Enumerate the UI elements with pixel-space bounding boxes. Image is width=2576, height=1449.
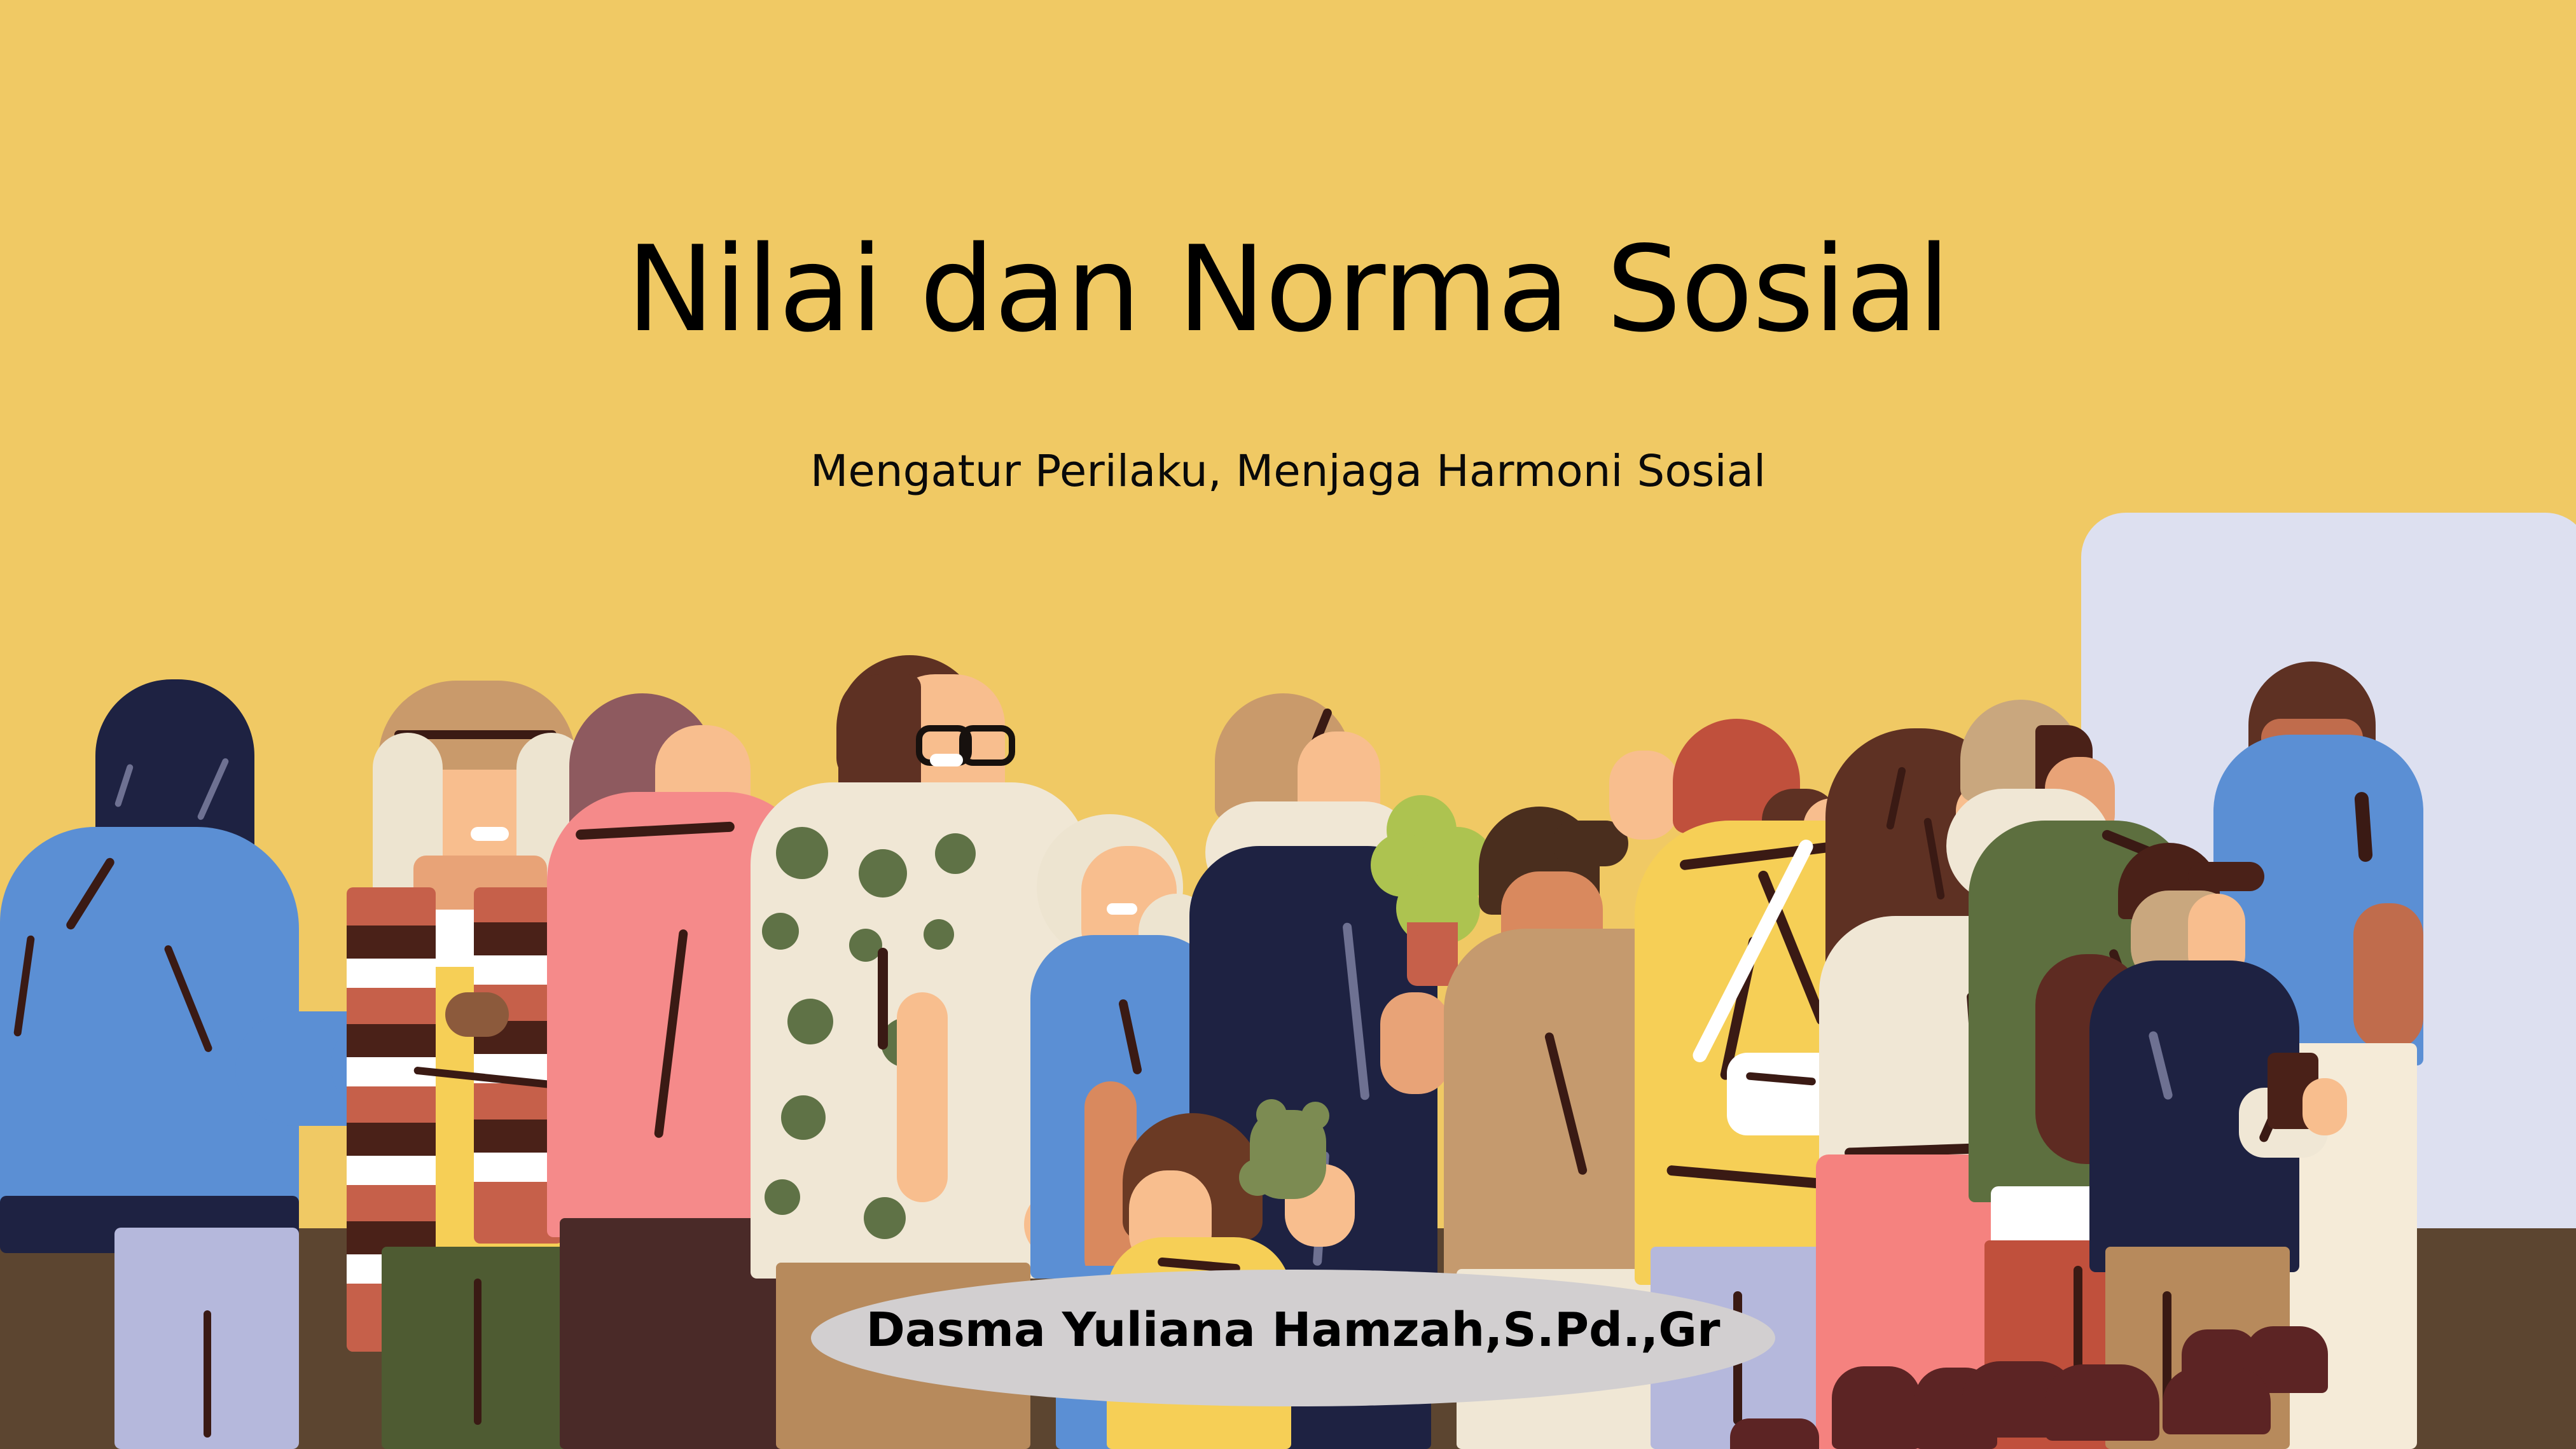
dot <box>781 1095 826 1140</box>
hand <box>2302 1078 2347 1135</box>
shoe <box>2163 1368 2271 1434</box>
glove <box>445 992 509 1037</box>
dot <box>864 1197 906 1239</box>
plant-pot <box>1407 922 1458 986</box>
arm <box>897 992 948 1202</box>
author-name: Dasma Yuliana Hamzah,S.Pd.,Gr <box>811 1303 1775 1357</box>
teddy-arm <box>1239 1159 1276 1196</box>
dot <box>924 919 954 950</box>
arm <box>2353 903 2423 1050</box>
presentation-slide: Nilai dan Norma Sosial Mengatur Perilaku… <box>0 0 2576 1449</box>
smile <box>1107 903 1137 915</box>
pants-seam <box>204 1310 211 1438</box>
dot <box>762 913 799 950</box>
dot <box>935 833 976 874</box>
teddy-ear-right <box>1301 1102 1329 1130</box>
sleeve-line <box>878 948 888 1050</box>
dot <box>776 827 828 879</box>
page-title: Nilai dan Norma Sosial <box>0 226 2576 354</box>
dot <box>787 999 833 1044</box>
hand <box>1380 992 1450 1094</box>
dot <box>859 849 907 898</box>
pants-seam <box>474 1279 481 1425</box>
smile <box>471 827 509 841</box>
raised-hand <box>1609 751 1679 840</box>
boot <box>1730 1418 1819 1449</box>
teddy-ear-left <box>1256 1099 1287 1130</box>
cap-brim <box>2188 862 2264 891</box>
glasses-right-lens <box>959 725 1015 766</box>
smile <box>930 754 963 766</box>
page-subtitle: Mengatur Perilaku, Menjaga Harmoni Sosia… <box>0 445 2576 498</box>
boot <box>2045 1364 2159 1441</box>
dot <box>765 1179 800 1215</box>
boot <box>1832 1366 1921 1449</box>
